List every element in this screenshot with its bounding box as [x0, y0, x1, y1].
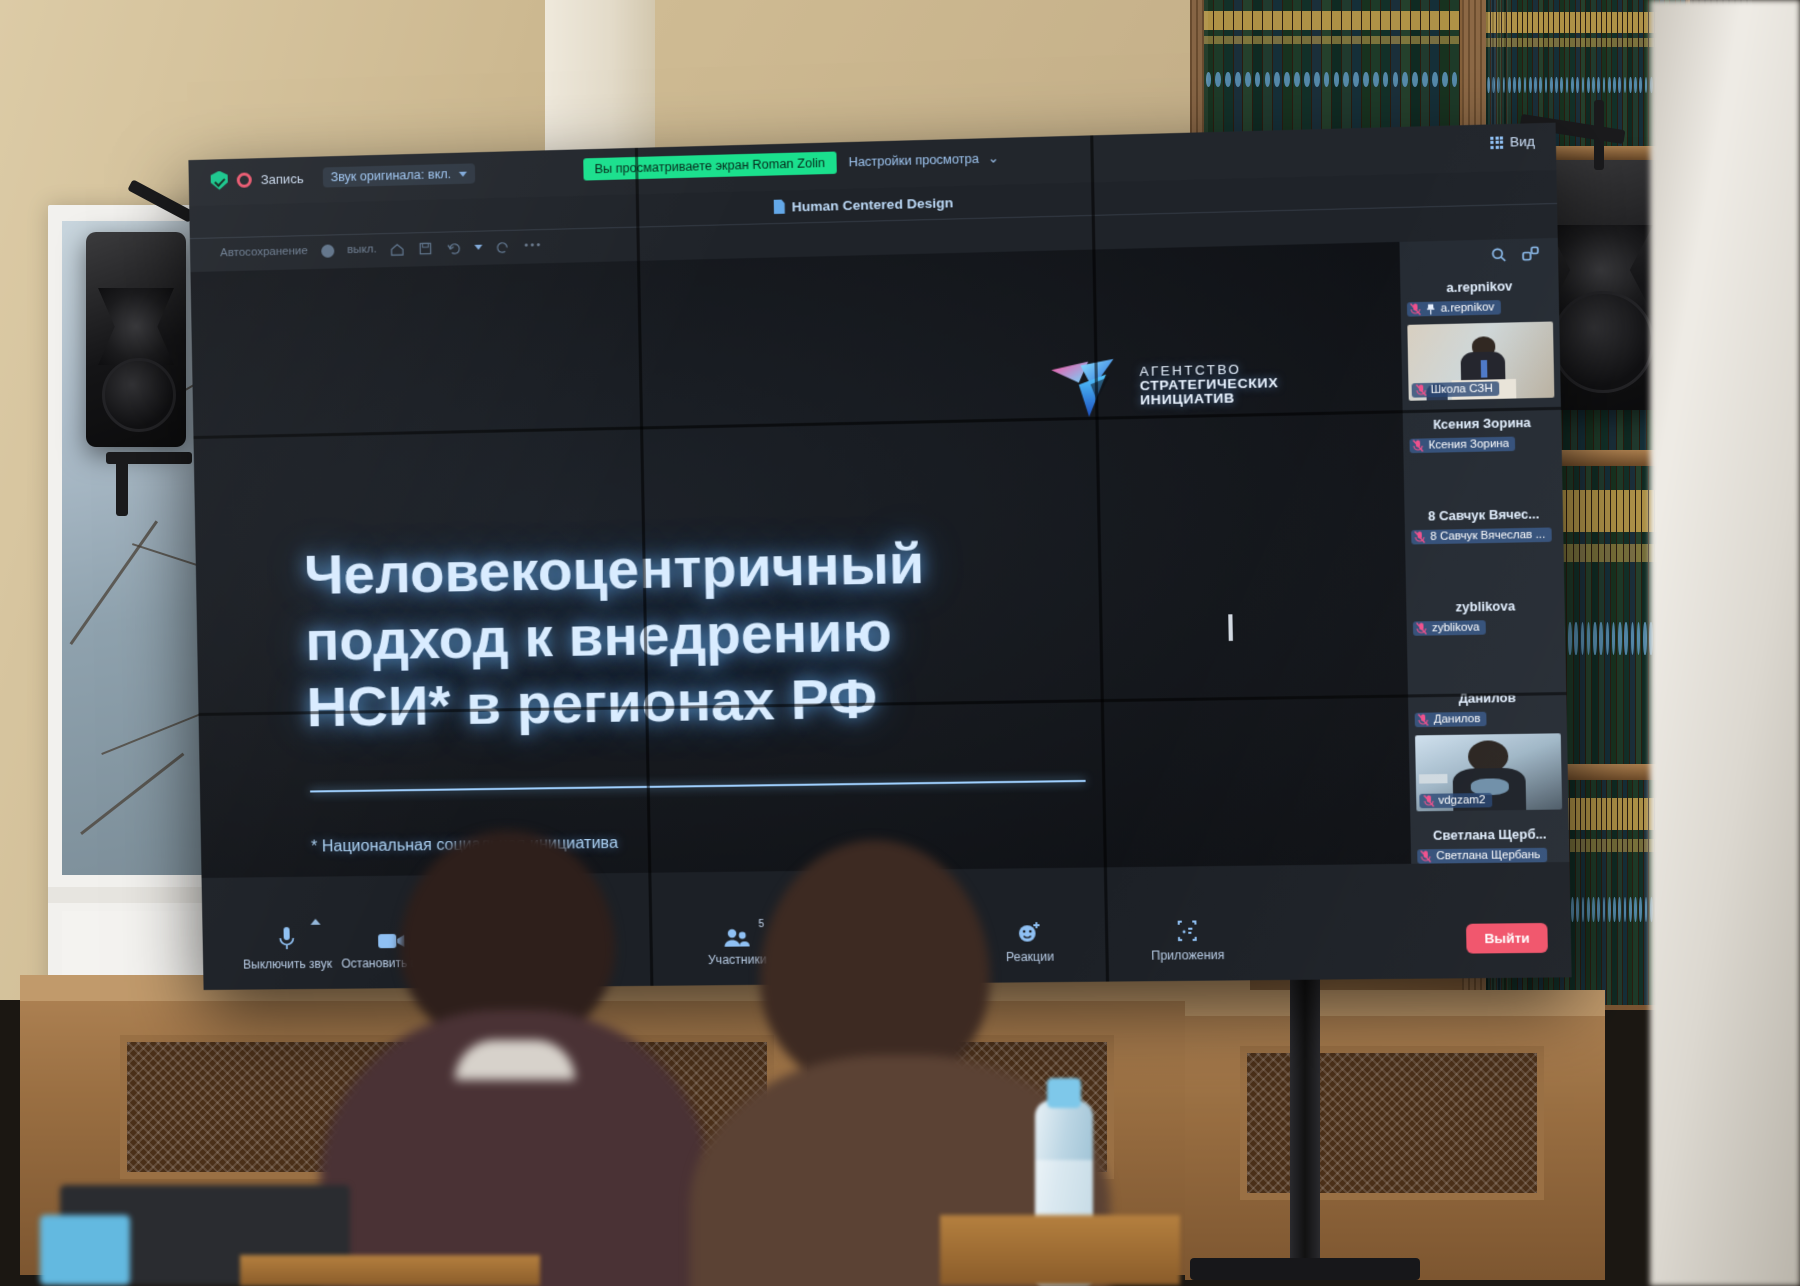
- participant-tile-spacer: [1410, 454, 1556, 492]
- participants-count-badge: 5: [758, 919, 764, 930]
- book-spine: [1591, 780, 1595, 1005]
- white-panel-right: [1650, 0, 1800, 1286]
- book-spine: [1639, 0, 1643, 148]
- undo-icon[interactable]: [446, 240, 461, 255]
- wood-cabinet-right: [1185, 990, 1605, 1280]
- book-spine: [1580, 466, 1585, 766]
- book-spine: [1581, 780, 1585, 1005]
- participant-display-name: 8 Савчук Вячес...: [1411, 502, 1557, 530]
- blue-object: [40, 1215, 130, 1285]
- participants-strip-tools: [1399, 238, 1558, 273]
- mute-button-label: Выключить звук: [243, 957, 332, 972]
- participants-button[interactable]: 5 Участники: [707, 921, 766, 967]
- gallery-layout-icon[interactable]: [1522, 246, 1541, 263]
- grid-icon: [1491, 136, 1504, 149]
- autosave-state: выкл.: [347, 243, 377, 256]
- pin-icon: [1426, 303, 1436, 315]
- loudspeaker-left: [86, 232, 186, 447]
- participant-tiles: a.repnikova.repnikovШкола СЗНКсения Зори…: [1400, 269, 1569, 864]
- book-spine: [1342, 0, 1351, 138]
- book-spine: [1618, 780, 1622, 1005]
- muted-microphone-icon: [1413, 440, 1424, 453]
- book-spine: [1607, 0, 1611, 148]
- book-spine: [1597, 780, 1601, 1005]
- book-spine: [1401, 0, 1410, 138]
- book-spine: [1273, 0, 1282, 138]
- record-dot-icon[interactable]: [237, 172, 252, 187]
- original-sound-button[interactable]: Звук оригинала: вкл.: [322, 163, 475, 187]
- screen-stand-foot: [1190, 1258, 1420, 1280]
- participant-tag-label: Ксения Зорина: [1428, 438, 1509, 452]
- participant-tag-label: a.repnikov: [1441, 301, 1495, 315]
- mic-options-caret-icon[interactable]: [310, 919, 320, 925]
- share-status-label: Вы просматриваете экран Roman Zolin: [583, 151, 836, 180]
- book-spine: [1602, 780, 1606, 1005]
- microphone-icon: [277, 926, 298, 952]
- slide-title: Человекоцентричный подход к внедрению НС…: [304, 527, 1104, 741]
- book-spine: [1332, 0, 1341, 138]
- asi-logo-line3: ИНИЦИАТИВ: [1140, 390, 1279, 408]
- view-settings-button[interactable]: Настройки просмотра ⌄: [836, 146, 1011, 174]
- participant-tile[interactable]: zyblikovazyblikova: [1406, 589, 1566, 683]
- book-spine: [1611, 466, 1616, 766]
- autosave-toggle[interactable]: [321, 244, 334, 257]
- recording-controls: Запись Звук оригинала: вкл.: [211, 163, 476, 190]
- apps-button-label: Приложения: [1151, 948, 1224, 963]
- book-spine: [1421, 0, 1430, 138]
- book-spine: [1624, 466, 1629, 766]
- book-spine: [1644, 780, 1648, 1005]
- more-options-icon[interactable]: •••: [524, 239, 543, 252]
- leave-meeting-button[interactable]: Выйти: [1466, 923, 1548, 954]
- muted-microphone-icon: [1424, 795, 1435, 807]
- book-spine: [1623, 780, 1627, 1005]
- book-spine: [1636, 466, 1641, 766]
- book-spine: [1224, 0, 1233, 138]
- participant-name-tag: a.repnikov: [1407, 300, 1501, 317]
- autosave-label: Автосохранение: [220, 245, 308, 259]
- book-spine: [1644, 0, 1648, 148]
- participant-display-name: Ксения Зорина: [1409, 410, 1555, 439]
- book-spine: [1381, 0, 1390, 138]
- book-spine: [1450, 0, 1459, 138]
- asi-logo: АГЕНТСТВО СТРАТЕГИЧЕСКИХ ИНИЦИАТИВ: [1049, 351, 1279, 419]
- top-bar-right: Вид: [1491, 134, 1535, 151]
- book-spine: [1612, 0, 1616, 148]
- screen-share-banner: Вы просматриваете экран Roman Zolin Наст…: [583, 146, 1011, 181]
- participant-tag-label: Светлана Щербань: [1436, 849, 1540, 863]
- book-spine: [1586, 780, 1590, 1005]
- book-spine: [1362, 0, 1371, 138]
- redo-icon[interactable]: [496, 238, 511, 253]
- book-spine: [1612, 780, 1616, 1005]
- shared-slide-canvas: АГЕНТСТВО СТРАТЕГИЧЕСКИХ ИНИЦИАТИВ Челов…: [190, 242, 1411, 878]
- book-spine: [1411, 0, 1420, 138]
- book-spine: [1618, 0, 1622, 148]
- participant-tag-label: zyblikova: [1432, 621, 1480, 634]
- participant-display-name: zyblikova: [1412, 593, 1558, 621]
- book-spine: [1302, 0, 1311, 138]
- participant-display-name: a.repnikov: [1406, 273, 1552, 302]
- thumbnail-name-label: Школа СЗН: [1412, 381, 1500, 397]
- participant-tag-label: Данилов: [1434, 713, 1481, 726]
- book-spine: [1214, 0, 1223, 138]
- reactions-button-label: Реакции: [1006, 949, 1054, 964]
- book-spine: [1293, 0, 1302, 138]
- book-spine: [1617, 466, 1622, 766]
- record-label[interactable]: Запись: [261, 171, 304, 187]
- chair-back: [240, 1255, 540, 1286]
- shelf: [1204, 0, 1460, 138]
- encryption-shield-icon[interactable]: [211, 171, 228, 190]
- book-spine: [1639, 780, 1643, 1005]
- book-spine: [1567, 466, 1572, 766]
- book-spine: [1633, 780, 1637, 1005]
- screen-stand-pole: [1290, 975, 1320, 1275]
- book-spine: [1391, 0, 1400, 138]
- participant-display-name: Данилов: [1414, 685, 1560, 713]
- muted-microphone-icon: [1410, 303, 1421, 316]
- book-spine: [1633, 0, 1637, 148]
- book-spine: [1430, 0, 1439, 138]
- reactions-button[interactable]: Реакции: [1005, 918, 1054, 964]
- asi-arrow-logo-icon: [1049, 355, 1129, 420]
- participant-tag-label: 8 Савчук Вячеслав ...: [1430, 529, 1545, 543]
- participants-button-label: Участники: [708, 952, 767, 967]
- participant-name-tag: zyblikova: [1413, 620, 1486, 636]
- book-spine: [1263, 0, 1272, 138]
- participant-tile-spacer: [1413, 638, 1559, 675]
- book-spine: [1586, 466, 1591, 766]
- save-icon[interactable]: [418, 240, 433, 255]
- original-sound-label: Звук оригинала: вкл.: [330, 167, 451, 184]
- participant-tile[interactable]: 8 Савчук Вячес...8 Савчук Вячеслав ...: [1404, 497, 1564, 591]
- home-icon[interactable]: [390, 241, 405, 256]
- book-spine: [1253, 0, 1262, 138]
- participant-name-tag: 8 Савчук Вячеслав ...: [1411, 527, 1552, 544]
- undo-caret-icon[interactable]: [474, 244, 482, 249]
- participant-tile[interactable]: Ксения ЗоринаКсения Зорина: [1403, 406, 1563, 501]
- book-spine: [1352, 0, 1361, 138]
- book-spine: [1234, 0, 1243, 138]
- book-spine: [1574, 466, 1579, 766]
- table-edge: [940, 1215, 1180, 1285]
- participant-name-tag: Данилов: [1415, 712, 1487, 727]
- muted-microphone-icon: [1416, 622, 1427, 634]
- book-spine: [1599, 466, 1604, 766]
- apps-button[interactable]: Приложения: [1150, 916, 1224, 963]
- book-spine: [1623, 0, 1627, 148]
- shared-document-title: Human Centered Design: [792, 195, 953, 214]
- muted-microphone-icon: [1416, 384, 1427, 397]
- book-spine: [1440, 0, 1449, 138]
- chevron-down-icon[interactable]: [459, 171, 467, 176]
- book-spine: [1642, 466, 1647, 766]
- book-spine: [1322, 0, 1331, 138]
- document-icon: [773, 200, 785, 214]
- screenshot-root: Запись Звук оригинала: вкл. Вы просматри…: [0, 0, 1800, 1286]
- mute-button[interactable]: Выключить звук: [242, 926, 332, 972]
- chevron-down-icon: ⌄: [988, 151, 999, 166]
- participant-video-thumbnail[interactable]: Школа СЗН: [1407, 321, 1554, 400]
- view-settings-label: Настройки просмотра: [848, 152, 979, 170]
- book-spine: [1371, 0, 1380, 138]
- reactions-icon: [1017, 918, 1042, 945]
- participant-display-name: Светлана Щерб...: [1417, 822, 1563, 849]
- participant-name-tag: Светлана Щербань: [1417, 848, 1547, 864]
- book-spine: [1630, 466, 1635, 766]
- book-spine: [1628, 780, 1632, 1005]
- participant-video-thumbnail[interactable]: vdgzam2: [1415, 733, 1562, 811]
- view-button-label: Вид: [1510, 134, 1535, 150]
- participant-name-tag: Ксения Зорина: [1409, 437, 1515, 454]
- view-button[interactable]: Вид: [1491, 134, 1535, 151]
- book-spine: [1628, 0, 1632, 148]
- participants-strip: a.repnikova.repnikovШкола СЗНКсения Зори…: [1399, 238, 1569, 864]
- participant-tile[interactable]: ДаниловДаниловvdgzam2: [1408, 681, 1569, 820]
- thumbnail-name-label: vdgzam2: [1419, 793, 1492, 808]
- muted-microphone-icon: [1418, 714, 1429, 726]
- apps-icon: [1175, 916, 1201, 943]
- slide-divider: [310, 780, 1086, 793]
- book-spine: [1312, 0, 1321, 138]
- book-spine: [1605, 466, 1610, 766]
- book-spine: [1243, 0, 1252, 138]
- text-cursor: [1228, 614, 1233, 641]
- book-spine: [1283, 0, 1292, 138]
- participants-icon: 5: [722, 921, 751, 948]
- asi-logo-text: АГЕНТСТВО СТРАТЕГИЧЕСКИХ ИНИЦИАТИВ: [1139, 361, 1278, 408]
- muted-microphone-icon: [1420, 850, 1431, 862]
- search-icon[interactable]: [1490, 246, 1507, 263]
- slide-title-line-2: подход к внедрению: [305, 594, 1102, 674]
- slide-title-line-3: НСИ* в регионах РФ: [306, 662, 1103, 741]
- muted-microphone-icon: [1414, 531, 1425, 544]
- book-spine: [1607, 780, 1611, 1005]
- book-spine: [1576, 780, 1580, 1005]
- participant-tile[interactable]: a.repnikova.repnikovШкола СЗН: [1400, 269, 1561, 409]
- book-spine: [1592, 466, 1597, 766]
- participant-tile[interactable]: Светлана Щерб...Светлана ЩербаньRoman Zo…: [1410, 818, 1569, 864]
- participant-tile-spacer: [1412, 546, 1558, 584]
